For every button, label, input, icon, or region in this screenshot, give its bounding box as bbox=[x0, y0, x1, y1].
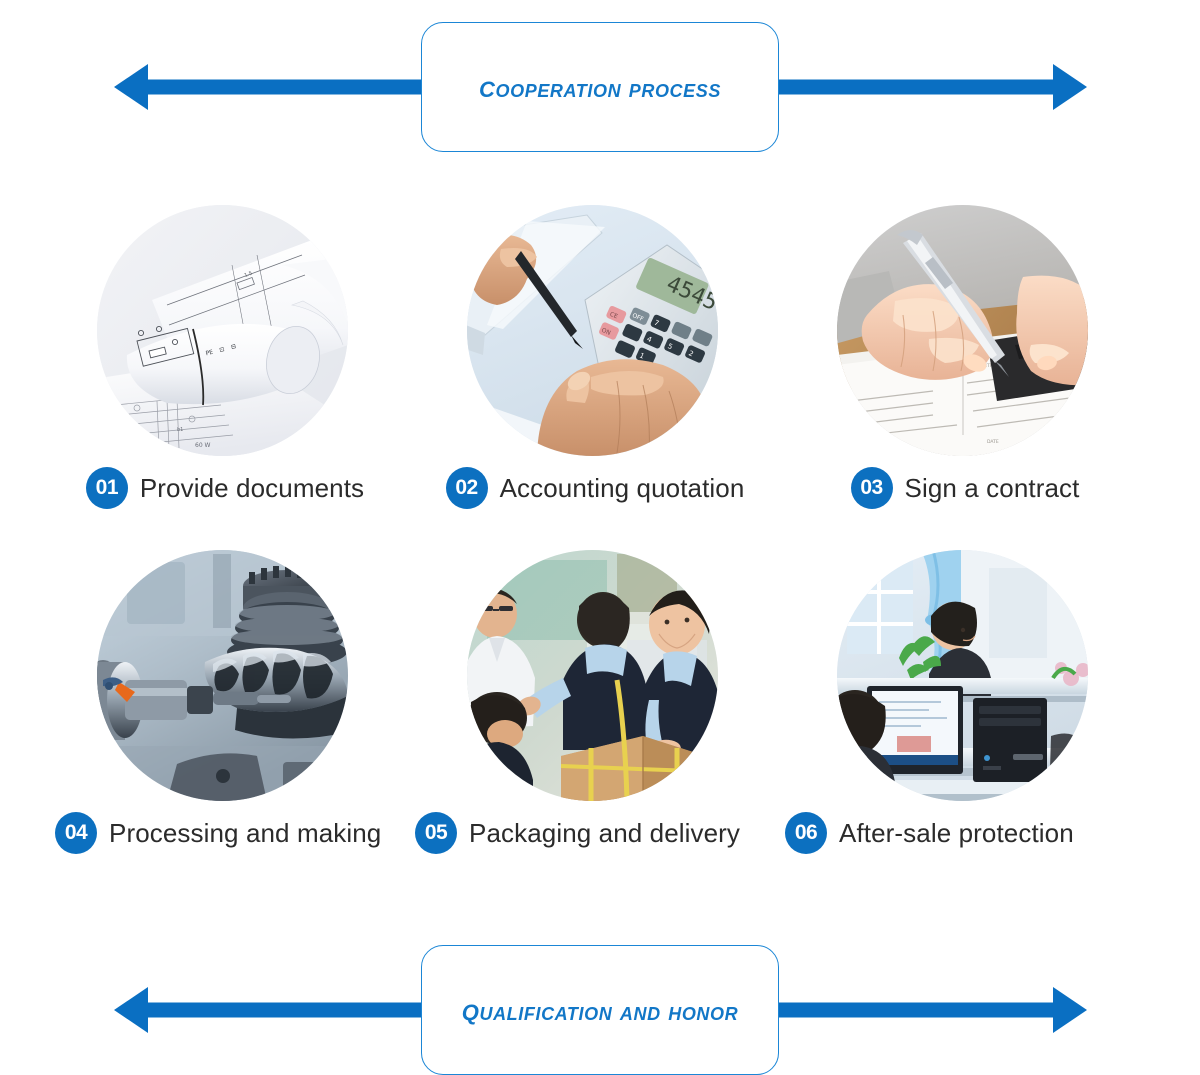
svg-text:DATE: DATE bbox=[987, 439, 999, 445]
step-caption-04: 04 Processing and making bbox=[45, 808, 405, 858]
step-badge-03: 03 bbox=[851, 467, 893, 509]
arrow-left-head-icon bbox=[114, 64, 148, 110]
process-step-06[interactable]: 06 After-sale protection bbox=[785, 540, 1145, 880]
process-step-05[interactable]: 05 Packaging and delivery bbox=[415, 540, 775, 880]
process-steps-grid: 60 W b1 1.5 bbox=[0, 195, 1200, 895]
step-caption-01: 01 Provide documents bbox=[45, 463, 405, 513]
qualification-and-honor-banner: Qualification and honor bbox=[0, 945, 1200, 1075]
step-badge-01: 01 bbox=[86, 467, 128, 509]
arrow-right-head-icon bbox=[1053, 64, 1087, 110]
step-badge-05: 05 bbox=[415, 812, 457, 854]
banner-box-top: Cooperation process bbox=[421, 22, 779, 152]
arrow-right-head-icon bbox=[1053, 987, 1087, 1033]
infographic-page: Cooperation process bbox=[0, 0, 1200, 1075]
banner-box-bottom: Qualification and honor bbox=[421, 945, 779, 1075]
bottom-banner-title: Qualification and honor bbox=[462, 992, 738, 1028]
top-banner-title: Cooperation process bbox=[479, 69, 721, 105]
step-caption-06: 06 After-sale protection bbox=[785, 808, 1145, 858]
process-step-04[interactable]: 04 Processing and making bbox=[45, 540, 405, 880]
step-label-05: Packaging and delivery bbox=[469, 818, 740, 849]
step-caption-03: 03 Sign a contract bbox=[785, 463, 1145, 513]
step-badge-02: 02 bbox=[446, 467, 488, 509]
step-caption-05: 05 Packaging and delivery bbox=[415, 808, 775, 858]
hands-calculator-photo: 4545 CE O bbox=[467, 205, 718, 456]
svg-text:b1: b1 bbox=[177, 427, 183, 433]
office-workers-computers-photo bbox=[837, 550, 1088, 801]
step-label-06: After-sale protection bbox=[839, 818, 1074, 849]
svg-text:60 W: 60 W bbox=[195, 442, 211, 449]
step-label-02: Accounting quotation bbox=[500, 473, 745, 504]
rolled-blueprints-photo: 60 W b1 1.5 bbox=[97, 205, 348, 456]
step-label-03: Sign a contract bbox=[905, 473, 1080, 504]
step-badge-04: 04 bbox=[55, 812, 97, 854]
process-step-03[interactable]: CONTRACT AGREEMENT SIGNATURE DATE bbox=[785, 195, 1145, 535]
svg-text:SIGNATURE: SIGNATURE bbox=[853, 445, 879, 451]
cooperation-process-banner: Cooperation process bbox=[0, 22, 1200, 152]
process-step-02[interactable]: 4545 CE O bbox=[415, 195, 775, 535]
cnc-machining-photo bbox=[97, 550, 348, 801]
process-step-01[interactable]: 60 W b1 1.5 bbox=[45, 195, 405, 535]
step-caption-02: 02 Accounting quotation bbox=[415, 463, 775, 513]
hand-signing-contract-photo: CONTRACT AGREEMENT SIGNATURE DATE bbox=[837, 205, 1088, 456]
step-label-04: Processing and making bbox=[109, 818, 381, 849]
arrow-left-head-icon bbox=[114, 987, 148, 1033]
step-label-01: Provide documents bbox=[140, 473, 364, 504]
step-badge-06: 06 bbox=[785, 812, 827, 854]
workers-packing-boxes-photo bbox=[467, 550, 718, 801]
